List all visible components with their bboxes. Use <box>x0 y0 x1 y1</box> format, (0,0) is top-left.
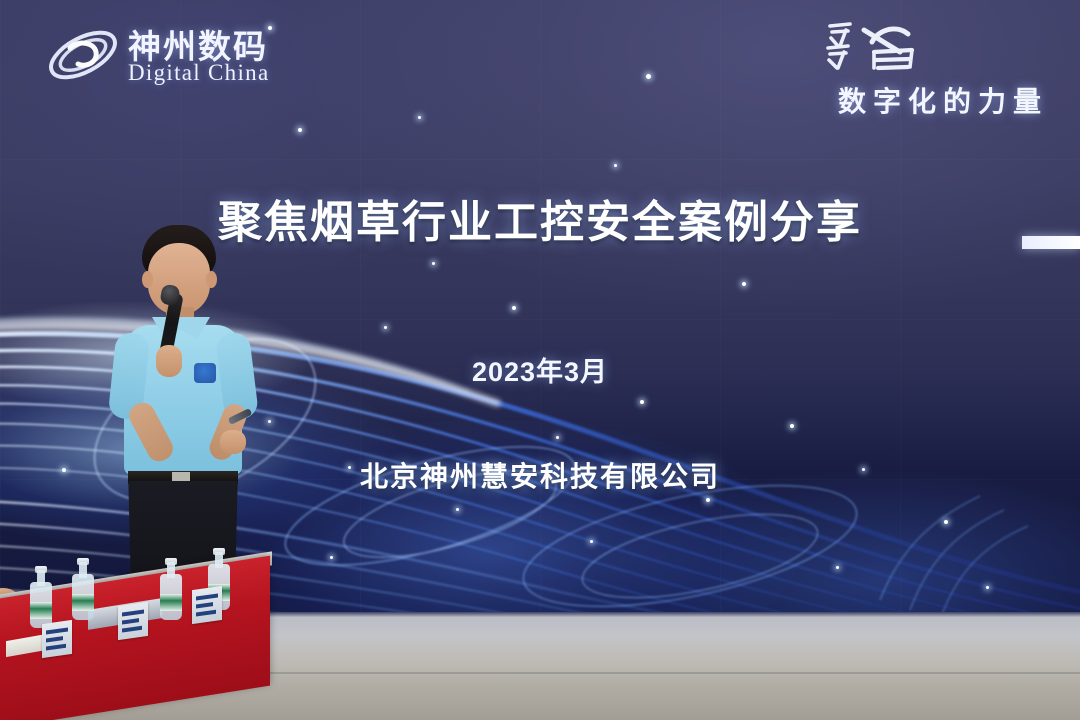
digital-china-logo: 神州数码 Digital China <box>44 22 314 90</box>
conference-stage-photo: 神州数码 Digital China 数字化的力量 聚焦烟草行业工控安全案例分享… <box>0 0 1080 720</box>
event-tagline: 数字化的力量 <box>838 80 1048 120</box>
event-logo: 数字化的力量 <box>810 14 1060 114</box>
juhe-calligraphy-icon <box>820 16 940 78</box>
bottle-label <box>30 602 52 619</box>
presenter-hand-right <box>220 430 246 454</box>
name-card-line <box>122 626 142 633</box>
name-card-line <box>122 618 139 624</box>
name-card <box>42 620 72 658</box>
bottle-label <box>72 594 94 611</box>
name-card-line <box>46 644 66 651</box>
water-bottle <box>72 558 94 620</box>
name-card <box>118 602 148 640</box>
presenter-ear-left <box>142 271 153 288</box>
water-bottle <box>30 566 52 628</box>
presenter-hand-holding-mic <box>156 345 182 377</box>
bottle-label <box>160 594 182 611</box>
digital-china-english-name: Digital China <box>128 60 269 86</box>
name-card-line <box>122 609 144 616</box>
name-card-line <box>196 602 213 608</box>
name-card-line <box>46 627 68 634</box>
name-card-line <box>196 610 216 617</box>
water-bottle <box>160 558 182 620</box>
presenter-ear-right <box>206 271 217 288</box>
name-card <box>192 586 222 624</box>
digital-china-swirl-icon <box>44 24 122 86</box>
presenter-shirt-badge <box>194 363 216 383</box>
name-card-line <box>196 593 218 600</box>
name-card-line <box>46 636 63 642</box>
screen-edge-accent-bar <box>1022 236 1080 249</box>
